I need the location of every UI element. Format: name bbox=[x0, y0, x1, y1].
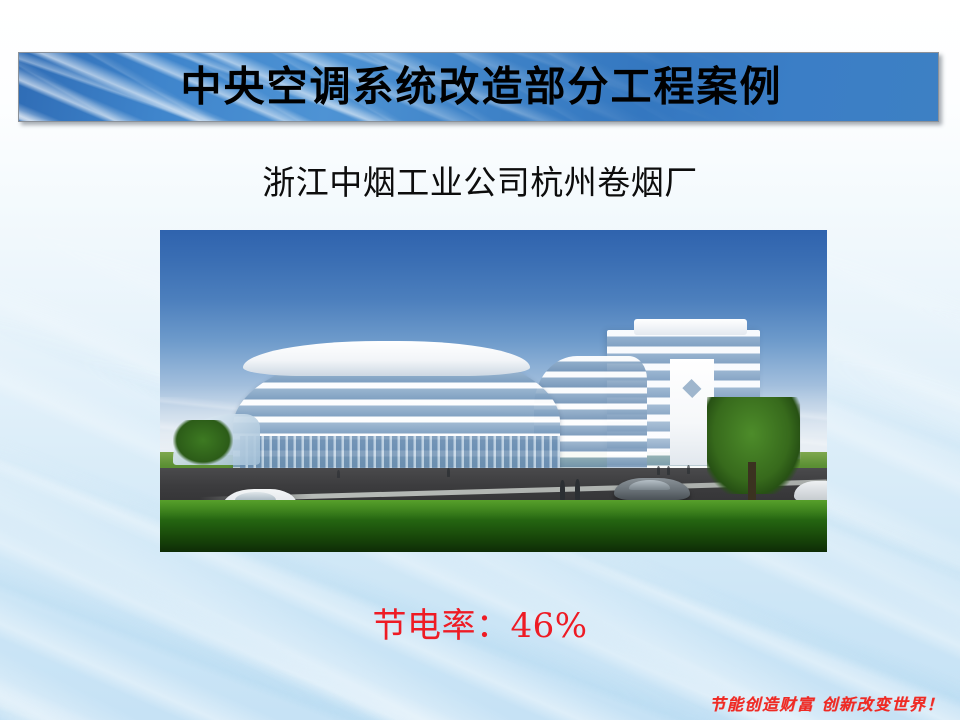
photo-tree-left bbox=[173, 420, 233, 465]
slide-subtitle: 浙江中烟工业公司杭州卷烟厂 bbox=[0, 164, 960, 202]
slide-title: 中央空调系统改造部分工程案例 bbox=[19, 67, 938, 108]
title-banner: 中央空调系统改造部分工程案例 bbox=[18, 52, 939, 122]
footer-slogan: 节能创造财富 创新改变世界！ bbox=[709, 695, 944, 714]
photo-near-lawn bbox=[160, 500, 827, 552]
photo-pedestrian bbox=[337, 470, 340, 478]
photo-pedestrian bbox=[575, 479, 580, 500]
photo-pedestrian bbox=[560, 480, 565, 500]
building-rendering-photo bbox=[160, 230, 827, 552]
presentation-slide: 中央空调系统改造部分工程案例 浙江中烟工业公司杭州卷烟厂 bbox=[0, 0, 960, 720]
photo-pedestrian bbox=[657, 466, 660, 475]
photo-building-right-roof-cap bbox=[634, 319, 747, 335]
photo-tree-right-trunk bbox=[748, 462, 755, 501]
power-saving-rate: 节电率：46% bbox=[0, 606, 960, 647]
photo-car-dark bbox=[614, 478, 691, 501]
photo-pedestrian bbox=[687, 465, 690, 474]
photo-pedestrian bbox=[667, 466, 670, 475]
photo-pedestrian bbox=[447, 468, 450, 477]
photo-building-glass-podium bbox=[240, 436, 560, 471]
